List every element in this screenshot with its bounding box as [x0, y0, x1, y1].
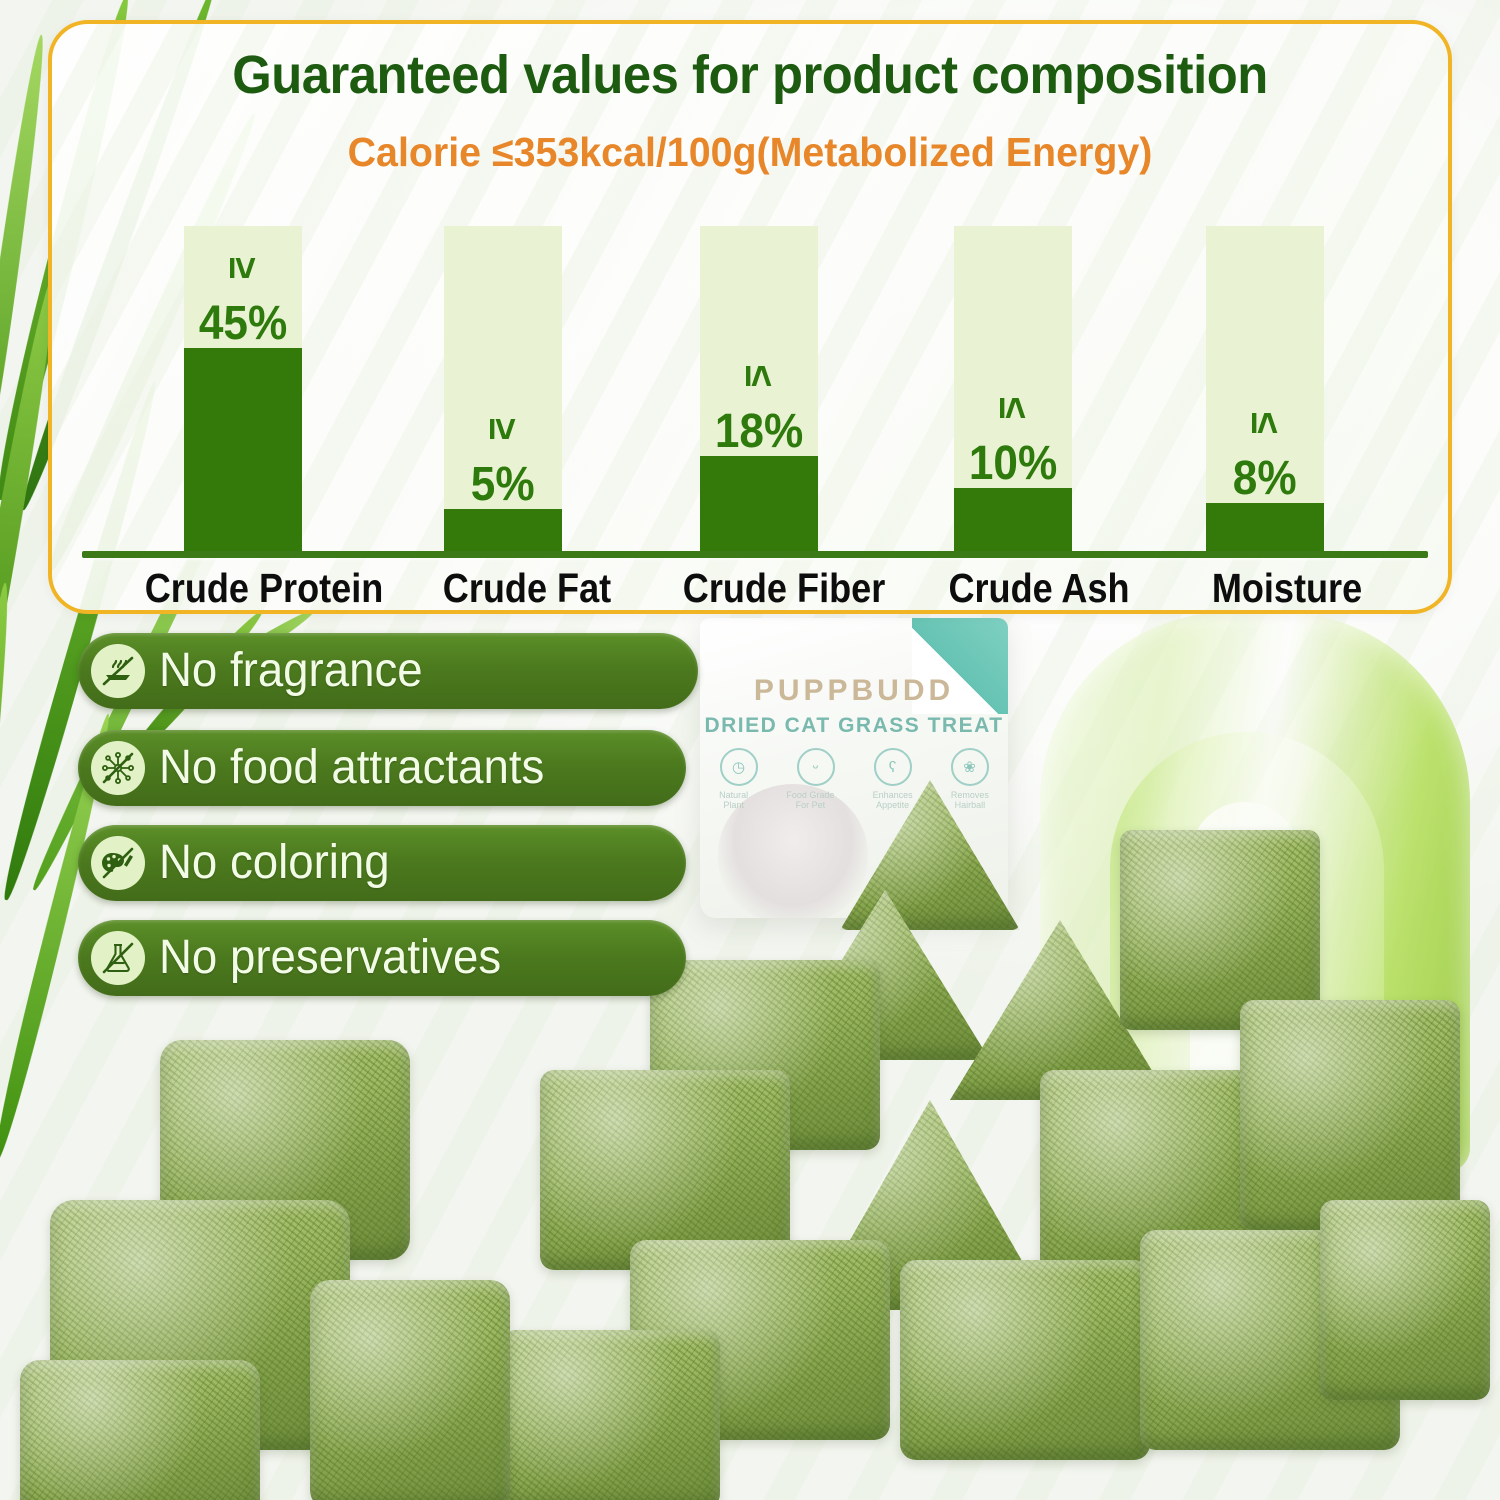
chart-baseline	[82, 551, 1428, 558]
category-label-crude-fat: Crude Fat	[408, 568, 646, 609]
bar-operator: ≥	[487, 418, 519, 440]
bar-chart: ≥ 45% ≥ 5% ≤ 18% ≤	[74, 202, 1434, 558]
category-label-moisture: Moisture	[1177, 568, 1397, 609]
package-brand: PUPPBUDD	[700, 674, 1008, 708]
bar-value: 45%	[199, 300, 287, 348]
claim-label: No preservatives	[159, 934, 501, 982]
bar-value: 8%	[1233, 455, 1297, 503]
no-coloring-icon	[91, 836, 145, 890]
bar-operator: ≤	[1249, 412, 1281, 434]
bar-value: 10%	[969, 440, 1057, 488]
bar-value: 5%	[471, 461, 535, 509]
calorie-subtitle: Calorie ≤353kcal/100g(Metabolized Energy…	[80, 132, 1420, 173]
bar-value: 18%	[715, 408, 803, 456]
claim-pill-no-fragrance[interactable]: No fragrance	[78, 633, 698, 709]
no-fragrance-icon	[91, 644, 145, 698]
claim-pill-no-coloring[interactable]: No coloring	[78, 825, 686, 901]
category-label-crude-protein: Crude Protein	[132, 568, 396, 609]
claim-pill-no-preservatives[interactable]: No preservatives	[78, 920, 686, 996]
claim-label: No food attractants	[159, 744, 544, 792]
no-attractants-icon	[91, 741, 145, 795]
bar-operator: ≥	[227, 257, 259, 279]
bar-operator: ≤	[743, 365, 775, 387]
treat-pile-left	[20, 1030, 500, 1500]
claim-pill-no-food-attractants[interactable]: No food attractants	[78, 730, 686, 806]
no-preservatives-icon	[91, 931, 145, 985]
claim-label: No coloring	[159, 839, 390, 887]
claim-label: No fragrance	[159, 647, 423, 695]
page-title: Guaranteed values for product compositio…	[94, 48, 1406, 102]
category-label-crude-ash: Crude Ash	[920, 568, 1158, 609]
composition-chart-card: Guaranteed values for product compositio…	[48, 20, 1452, 614]
category-label-crude-fiber: Crude Fiber	[661, 568, 907, 609]
bar-operator: ≤	[997, 397, 1029, 419]
package-product-name: DRIED CAT GRASS TREAT	[700, 714, 1008, 738]
